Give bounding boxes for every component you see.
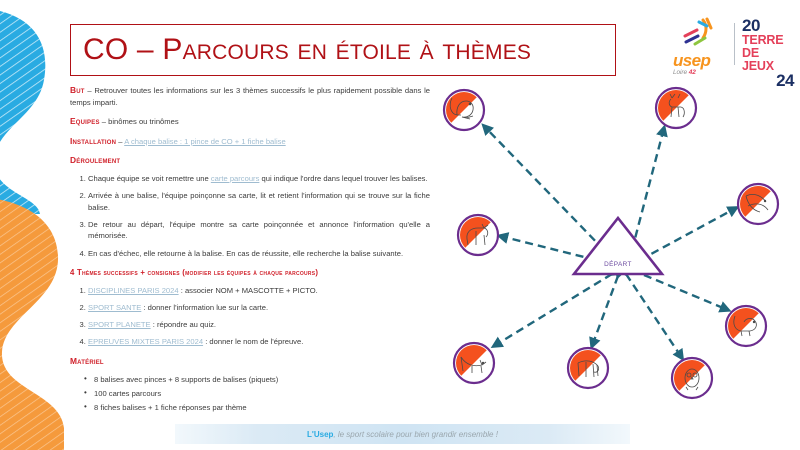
tdj-line-de-jeux: DE JEUX: [742, 47, 794, 73]
depart-label: DÉPART: [604, 259, 632, 268]
content-column: But – Retrouver toutes les informations …: [70, 84, 430, 417]
marker-squirrel[interactable]: [444, 90, 484, 130]
slide-title-box: CO – Parcours en étoile à thèmes: [70, 24, 616, 76]
step-pre: Arrivée à une balise, l'équipe poinçonne…: [88, 191, 430, 211]
installation-label: Installation: [70, 136, 116, 146]
marker-goat[interactable]: [568, 348, 608, 388]
route-to-goat: [592, 276, 618, 346]
route-to-cat: [494, 274, 612, 346]
step-pre: En cas d'échec, elle retourne à la balis…: [88, 249, 403, 258]
section-installation: Installation – A chaque balise : 1 pince…: [70, 135, 430, 148]
step-pre: Chaque équipe se voit remettre une: [88, 174, 211, 183]
marker-marmot[interactable]: [726, 306, 766, 346]
step-post: qui indique l'ordre dans lequel trouver …: [259, 174, 427, 183]
list-item: DISCIPLINES PARIS 2024 : associer NOM + …: [88, 285, 430, 296]
usep-wordmark: usep: [673, 52, 727, 69]
theme-link[interactable]: SPORT PLANETE: [88, 320, 151, 329]
usep-sub-number: 42: [689, 69, 696, 76]
list-item: Chaque équipe se voit remettre une carte…: [88, 173, 430, 184]
tdj-line-20: 20: [742, 17, 794, 34]
terre-de-jeux-logo: 20 TERRE DE JEUX 24: [742, 17, 794, 71]
star-course-diagram: DÉPART: [436, 78, 800, 423]
equipes-label: Equipes: [70, 116, 100, 126]
slide-canvas: CO – Parcours en étoile à thèmes usep Lo…: [0, 0, 800, 450]
footer-text: , le sport scolaire pour bien grandir en…: [333, 430, 498, 439]
theme-link[interactable]: DISCIPLINES PARIS 2024: [88, 286, 179, 295]
usep-sublabel: Loire 42: [673, 69, 727, 76]
list-item: 100 cartes parcours: [84, 388, 430, 399]
list-item: De retour au départ, l'équipe montre sa …: [88, 219, 430, 242]
marker-cat[interactable]: [454, 343, 494, 383]
list-item: SPORT SANTE : donner l'information lue s…: [88, 302, 430, 313]
section-but: But – Retrouver toutes les informations …: [70, 84, 430, 108]
marker-owl[interactable]: [672, 358, 712, 398]
materiel-list: 8 balises avec pinces + 8 supports de ba…: [70, 374, 430, 414]
blob-blue: [0, 7, 45, 214]
usep-logo: usep Loire 42: [673, 16, 727, 72]
theme-link[interactable]: SPORT SANTE: [88, 303, 141, 312]
installation-dash: –: [116, 137, 124, 146]
route-to-deer: [632, 128, 664, 250]
section-equipes: Equipes – binômes ou trinômes: [70, 115, 430, 128]
theme-text: : associer NOM + MASCOTTE + PICTO.: [179, 286, 318, 295]
logo-group: usep Loire 42 20 TERRE DE JEUX 24: [673, 16, 794, 72]
list-item: 8 fiches balises + 1 fiche réponses par …: [84, 402, 430, 413]
page-title: CO – Parcours en étoile à thèmes: [71, 35, 531, 65]
marker-bird[interactable]: [738, 184, 778, 224]
footer-tagline: L'Usep, le sport scolaire pour bien gran…: [307, 430, 498, 439]
route-to-marmot: [632, 270, 728, 310]
list-item: 8 balises avec pinces + 8 supports de ba…: [84, 374, 430, 385]
footer-brand: L'Usep: [307, 430, 333, 439]
route-to-fox: [500, 236, 596, 260]
themes-list: DISCIPLINES PARIS 2024 : associer NOM + …: [70, 285, 430, 347]
equipes-text: binômes ou trinômes: [108, 117, 179, 126]
list-item: EPREUVES MIXTES PARIS 2024 : donner le n…: [88, 336, 430, 347]
footer-bar: L'Usep, le sport scolaire pour bien gran…: [175, 424, 630, 444]
step-pre: De retour au départ, l'équipe montre sa …: [88, 220, 430, 240]
tdj-line-24: 24: [742, 72, 794, 89]
but-text: Retrouver toutes les informations sur le…: [70, 86, 430, 107]
blob-orange: [0, 197, 64, 450]
but-dash: –: [85, 86, 95, 95]
installation-link[interactable]: A chaque balise : 1 pince de CO + 1 fich…: [124, 137, 285, 146]
logo-divider: [734, 23, 735, 65]
deroulement-steps-list: Chaque équipe se voit remettre une carte…: [70, 173, 430, 259]
theme-text: : donner le nom de l'épreuve.: [203, 337, 303, 346]
route-to-squirrel: [484, 126, 604, 250]
route-to-bird: [640, 208, 736, 260]
step-link[interactable]: carte parcours: [211, 174, 260, 183]
marker-fox[interactable]: [458, 215, 498, 255]
list-item: Arrivée à une balise, l'équipe poinçonne…: [88, 190, 430, 213]
list-item: SPORT PLANETE : répondre au quiz.: [88, 319, 430, 330]
theme-text: : donner l'information lue sur la carte.: [141, 303, 268, 312]
tdj-line-terre: TERRE: [742, 34, 794, 47]
theme-text: : répondre au quiz.: [151, 320, 216, 329]
list-item: En cas d'échec, elle retourne à la balis…: [88, 248, 430, 259]
deroulement-label: Déroulement: [70, 154, 430, 167]
marker-deer[interactable]: [656, 88, 696, 128]
depart-marker: DÉPART: [574, 218, 662, 274]
usep-sub-prefix: Loire: [673, 69, 687, 76]
themes-heading: 4 Thèmes successifs + consignes (modifie…: [70, 267, 430, 279]
materiel-label: Matériel: [70, 355, 430, 368]
but-label: But: [70, 85, 85, 95]
equipes-dash: –: [100, 117, 108, 126]
theme-link[interactable]: EPREUVES MIXTES PARIS 2024: [88, 337, 203, 346]
